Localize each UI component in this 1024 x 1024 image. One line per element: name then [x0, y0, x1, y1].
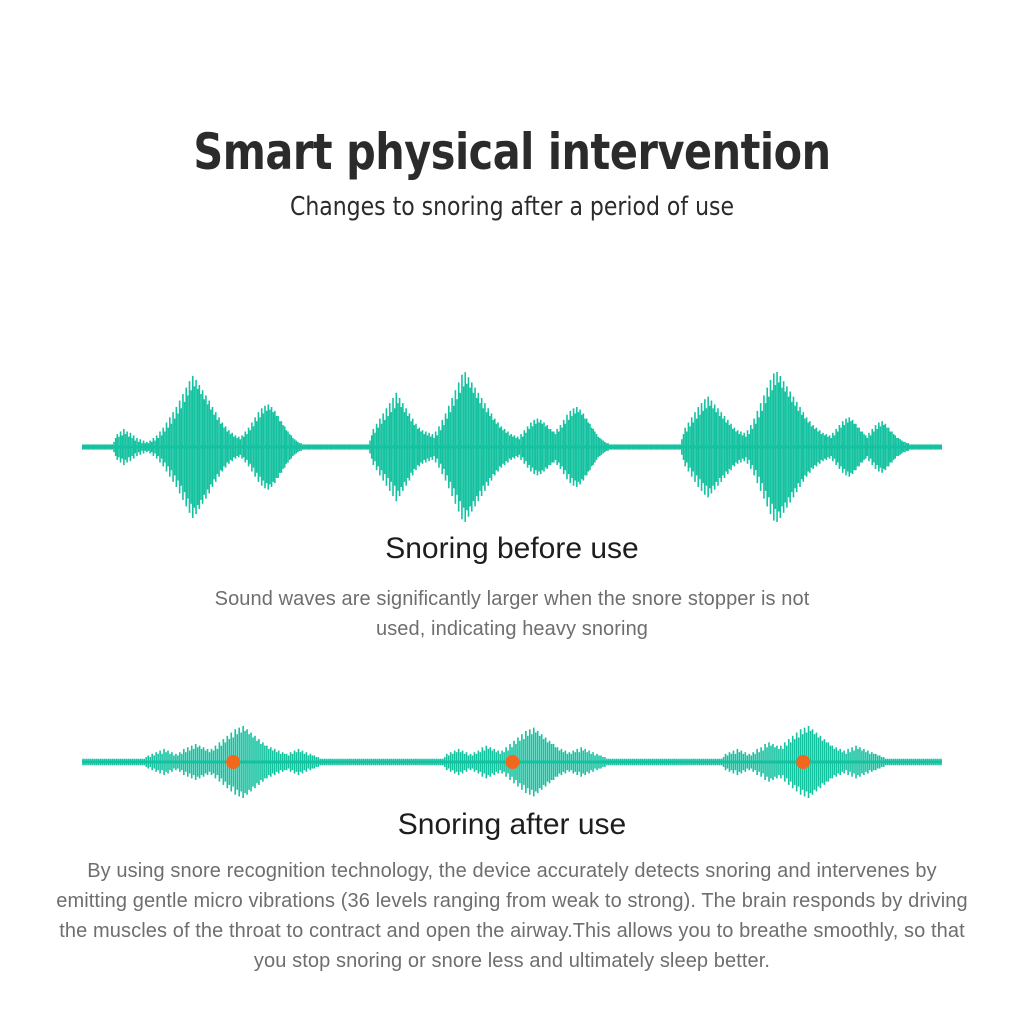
heading-snoring-before-use: Snoring before use — [0, 528, 1024, 570]
header: Smart physical intervention Changes to s… — [0, 120, 1024, 224]
waveform-before-use-chart — [82, 372, 942, 522]
waveform-after-use-chart — [82, 722, 942, 802]
vibration-marker-2-icon — [506, 755, 520, 769]
caption-after-use: Snoring after use By using snore recogni… — [0, 804, 1024, 976]
waveform-after-use-container — [0, 722, 1024, 802]
page-subtitle: Changes to snoring after a period of use — [31, 190, 994, 224]
infographic-page: Smart physical intervention Changes to s… — [0, 0, 1024, 1024]
description-snoring-after-use: By using snore recognition technology, t… — [52, 856, 972, 976]
vibration-marker-1-icon — [226, 755, 240, 769]
page-title: Smart physical intervention — [41, 120, 983, 184]
description-snoring-before-use: Sound waves are significantly larger whe… — [202, 584, 822, 644]
heading-snoring-after-use: Snoring after use — [0, 804, 1024, 846]
waveform-before-use-container — [0, 372, 1024, 522]
caption-before-use: Snoring before use Sound waves are signi… — [0, 528, 1024, 644]
vibration-marker-3-icon — [796, 755, 810, 769]
